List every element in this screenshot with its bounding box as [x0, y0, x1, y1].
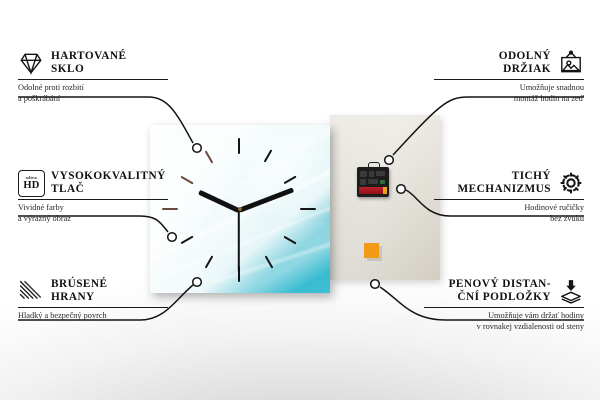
feature-title: ODOLNÝ DRŽIAK — [499, 50, 551, 76]
feature-title: PENOVÝ DISTAN- ČNÍ PODLOŽKY — [449, 278, 551, 304]
feature-durable-holder: ODOLNÝ DRŽIAK Umožňuje snadnou montáž ho… — [434, 50, 584, 104]
feature-description: Hodinové ručičky bez zvuku — [434, 203, 584, 224]
divider — [424, 307, 584, 308]
feature-title: HARTOVANÉ SKLO — [51, 50, 126, 76]
feature-header: ultra HD VYSOKOKVALITNÝ TLAČ — [18, 170, 168, 196]
divider — [434, 79, 584, 80]
feature-title: TICHÝ MECHANIZMUS — [458, 170, 551, 196]
mechanism-battery — [359, 187, 385, 194]
feature-header: ODOLNÝ DRŽIAK — [434, 50, 584, 76]
hour-tick — [238, 138, 240, 154]
feature-description: Umožňuje snadnou montáž hodin na zeď — [434, 83, 584, 104]
feature-description: Vividné farby a výrazný obraz — [18, 203, 168, 224]
feature-polished-edges: BRÚSENÉ HRANY Hladký a bezpečný povrch — [18, 278, 168, 322]
feature-header: BRÚSENÉ HRANY — [18, 278, 168, 304]
ultra-hd-main-text: HD — [23, 181, 39, 192]
press-down-layers-icon — [558, 278, 584, 304]
feature-description: Hladký a bezpečný povrch — [18, 311, 168, 321]
divider — [18, 79, 168, 80]
divider — [434, 199, 584, 200]
feature-high-quality-print: ultra HD VYSOKOKVALITNÝ TLAČ Vividné far… — [18, 170, 168, 224]
feature-title: VYSOKOKVALITNÝ TLAČ — [51, 170, 166, 196]
glass-wall-clock — [150, 125, 330, 293]
clock-mechanism — [357, 167, 389, 197]
battery-terminal — [383, 187, 387, 194]
gear-icon — [558, 170, 584, 196]
foam-spacer-pad — [364, 243, 379, 258]
feature-tempered-glass: HARTOVANÉ SKLO Odolné proti rozbití a po… — [18, 50, 168, 104]
feature-header: TICHÝ MECHANIZMUS — [434, 170, 584, 196]
clock-back-panel — [330, 115, 440, 280]
feature-silent-mechanism: TICHÝ MECHANIZMUS Hodinové ručičky bez z… — [434, 170, 584, 224]
feature-header: HARTOVANÉ SKLO — [18, 50, 168, 76]
clock-center-pin — [238, 207, 242, 211]
feature-foam-spacers: PENOVÝ DISTAN- ČNÍ PODLOŽKY Umožňuje vám… — [424, 278, 584, 332]
feature-description: Odolné proti rozbití a poškrábání — [18, 83, 168, 104]
feature-header: PENOVÝ DISTAN- ČNÍ PODLOŽKY — [424, 278, 584, 304]
divider — [18, 199, 168, 200]
divider — [18, 307, 168, 308]
picture-hanger-icon — [558, 50, 584, 76]
ultra-hd-icon: ultra HD — [18, 170, 44, 196]
feature-title: BRÚSENÉ HRANY — [51, 278, 108, 304]
beveled-edge-icon — [18, 278, 44, 304]
infographic-canvas: HARTOVANÉ SKLO Odolné proti rozbití a po… — [0, 0, 600, 400]
product-photo — [150, 115, 440, 280]
feature-description: Umožňuje vám držať hodiny v rovnakej vzd… — [424, 311, 584, 332]
diamond-icon — [18, 50, 44, 76]
